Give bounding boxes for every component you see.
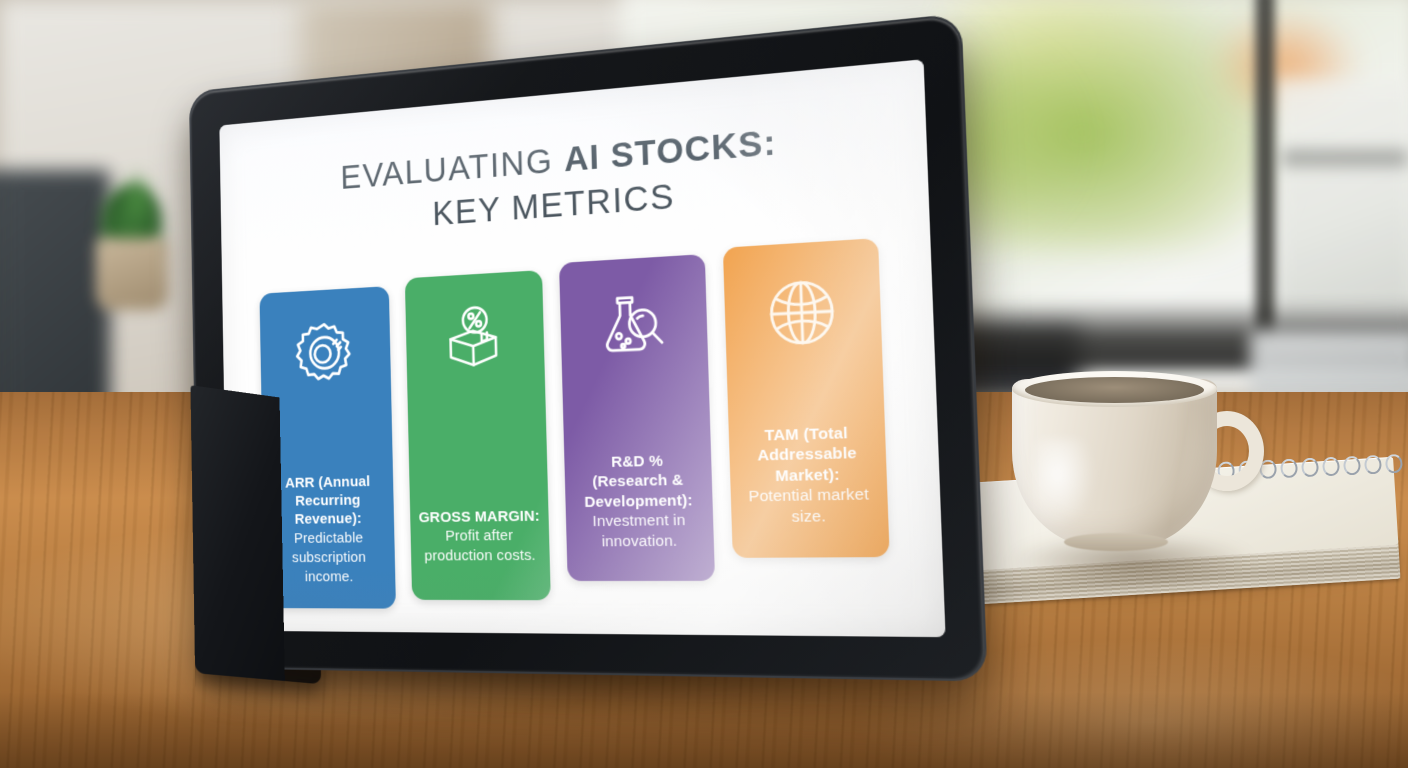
- metric-term: R&D % (Research & Development):: [573, 451, 704, 512]
- metric-card-gross-margin[interactable]: GROSS MARGIN: Profit after production co…: [405, 270, 551, 600]
- window-right-pane: [1275, 80, 1408, 310]
- metric-card-text: GROSS MARGIN: Profit after production co…: [410, 506, 551, 600]
- coffee-cup: [1012, 365, 1262, 590]
- globe-icon: [762, 272, 842, 353]
- potted-plant-leaves-top: [120, 170, 154, 220]
- slide-title-bold: AI STOCKS:: [563, 122, 777, 179]
- box-percent-icon: [439, 302, 510, 378]
- window-mullion: [1255, 0, 1275, 350]
- background-laptop: [1250, 330, 1408, 400]
- metric-description: Investment in innovation.: [575, 510, 705, 553]
- metric-card-rd-percent[interactable]: R&D % (Research & Development): Investme…: [559, 254, 715, 581]
- metric-description: Predictable subscription income.: [272, 528, 388, 587]
- flask-magnifier-icon: [596, 287, 671, 365]
- metric-card-row: ARR (Annual Recurring Revenue): Predicta…: [254, 237, 914, 611]
- metric-description: Profit after production costs.: [419, 525, 542, 566]
- window-right-bar: [1282, 150, 1408, 166]
- slide-title: EVALUATING AI STOCKS: KEY METRICS: [220, 108, 929, 251]
- metric-card-arr[interactable]: ARR (Annual Recurring Revenue): Predicta…: [259, 286, 395, 609]
- cup-coffee-surface: [1025, 377, 1204, 403]
- metric-card-tam[interactable]: TAM (Total Addressable Market): Potentia…: [723, 238, 890, 558]
- tablet-device-wrapper: EVALUATING AI STOCKS: KEY METRICS: [150, 52, 980, 702]
- photo-scene: EVALUATING AI STOCKS: KEY METRICS: [0, 0, 1408, 768]
- metric-card-text: R&D % (Research & Development): Investme…: [564, 450, 715, 581]
- cup-foot: [1064, 533, 1168, 551]
- gear-icon: [293, 317, 357, 389]
- cup-highlight: [1034, 439, 1094, 527]
- metric-term: ARR (Annual Recurring Revenue):: [271, 472, 387, 529]
- tablet-bezel: EVALUATING AI STOCKS: KEY METRICS: [189, 13, 988, 681]
- metric-term: TAM (Total Addressable Market):: [738, 423, 877, 487]
- metric-term: GROSS MARGIN:: [418, 506, 540, 527]
- metric-card-text: ARR (Annual Recurring Revenue): Predicta…: [263, 472, 396, 609]
- tablet-screen[interactable]: EVALUATING AI STOCKS: KEY METRICS: [219, 59, 945, 637]
- metric-description: Potential market size.: [740, 484, 879, 528]
- tablet-device[interactable]: EVALUATING AI STOCKS: KEY METRICS: [189, 13, 988, 681]
- presentation-slide: EVALUATING AI STOCKS: KEY METRICS: [219, 59, 945, 637]
- metric-card-text: TAM (Total Addressable Market): Potentia…: [729, 422, 890, 557]
